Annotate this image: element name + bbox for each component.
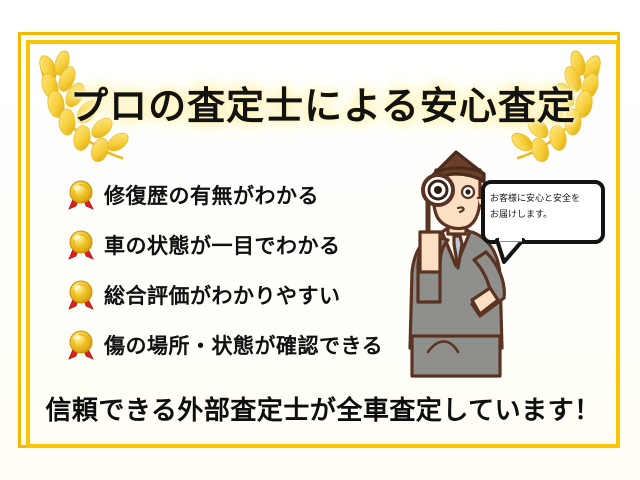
- benefit-list: 修復歴の有無がわかる 車の状態が一目でわかる: [66, 170, 426, 370]
- speech-bubble-line-2: お届けします。: [490, 207, 596, 223]
- gold-medal-icon: [66, 179, 96, 211]
- list-item-label: 総合評価がわかりやすい: [104, 280, 341, 310]
- speech-bubble: お客様に安心と安全を お届けします。: [481, 180, 605, 244]
- list-item: 修復歴の有無がわかる: [66, 170, 426, 220]
- speech-bubble-line-1: お客様に安心と安全を: [490, 191, 596, 207]
- list-item-label: 修復歴の有無がわかる: [104, 180, 319, 210]
- list-item: 総合評価がわかりやすい: [66, 270, 426, 320]
- gold-medal-icon: [66, 329, 96, 361]
- page-title: プロの査定士による安心査定: [70, 75, 576, 130]
- gold-medal-icon: [66, 279, 96, 311]
- list-item: 傷の場所・状態が確認できる: [66, 320, 426, 370]
- speech-bubble-text: お客様に安心と安全を お届けします。: [490, 191, 596, 223]
- list-item-label: 傷の場所・状態が確認できる: [104, 330, 383, 360]
- poster-canvas: プロの査定士による安心査定: [0, 0, 640, 480]
- list-item-label: 車の状態が一目でわかる: [104, 230, 341, 260]
- tagline: 信頼できる外部査定士が全車査定しています！: [26, 390, 620, 427]
- gold-medal-icon: [66, 229, 96, 261]
- list-item: 車の状態が一目でわかる: [66, 220, 426, 270]
- speech-bubble-tail: [495, 238, 525, 264]
